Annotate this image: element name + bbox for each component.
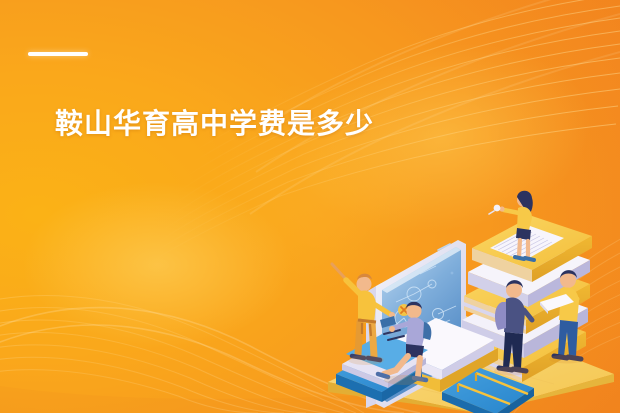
page-title: 鞍山华育高中学费是多少: [55, 106, 374, 142]
banner-image: 鞍山华育高中学费是多少: [0, 0, 620, 413]
accent-rule: [28, 52, 88, 56]
illustration: [318, 168, 620, 413]
